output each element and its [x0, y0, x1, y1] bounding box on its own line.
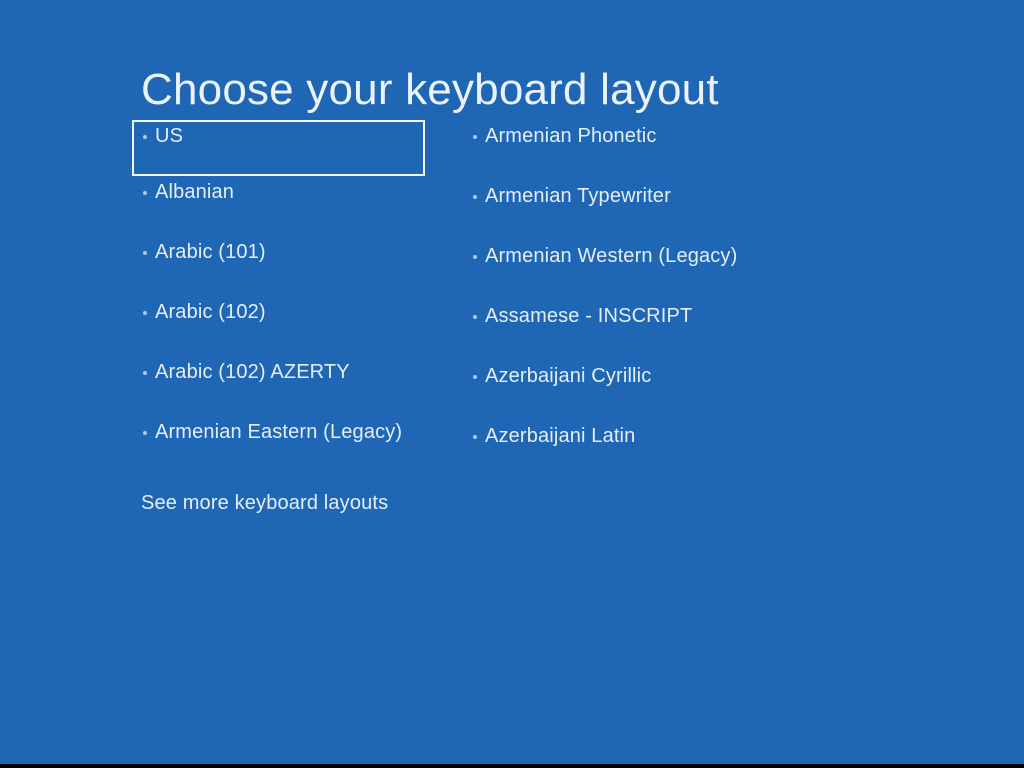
- bullet-dot-icon: [473, 135, 477, 139]
- keyboard-layout-screen: Choose your keyboard layout USAlbanianAr…: [0, 0, 1024, 764]
- bullet-dot-icon: [143, 251, 147, 255]
- bullet-dot-icon: [473, 375, 477, 379]
- bullet-dot-icon: [143, 431, 147, 435]
- keyboard-layout-option[interactable]: Armenian Phonetic: [462, 120, 762, 180]
- keyboard-layout-option[interactable]: Arabic (102): [132, 296, 426, 356]
- keyboard-layout-option[interactable]: US: [132, 120, 425, 176]
- bullet-dot-icon: [473, 195, 477, 199]
- keyboard-layout-option[interactable]: Assamese - INSCRIPT: [462, 300, 762, 360]
- bullet-dot-icon: [143, 311, 147, 315]
- bullet-dot-icon: [473, 315, 477, 319]
- keyboard-layout-option-label: Armenian Eastern (Legacy): [155, 421, 402, 444]
- keyboard-layout-option[interactable]: Albanian: [132, 176, 426, 236]
- keyboard-layout-option-label: Armenian Typewriter: [485, 185, 671, 208]
- keyboard-layout-option[interactable]: Azerbaijani Cyrillic: [462, 360, 762, 420]
- keyboard-layout-option-label: Albanian: [155, 181, 234, 204]
- bullet-dot-icon: [473, 435, 477, 439]
- keyboard-layout-option[interactable]: Arabic (101): [132, 236, 426, 296]
- keyboard-layout-option-label: Azerbaijani Latin: [485, 425, 635, 448]
- bullet-dot-icon: [473, 255, 477, 259]
- keyboard-layout-option[interactable]: Armenian Eastern (Legacy): [132, 416, 426, 476]
- page-title: Choose your keyboard layout: [141, 67, 719, 113]
- keyboard-layout-list-left: USAlbanianArabic (101)Arabic (102)Arabic…: [132, 120, 426, 476]
- bullet-dot-icon: [143, 191, 147, 195]
- keyboard-layout-option[interactable]: Armenian Typewriter: [462, 180, 762, 240]
- keyboard-layout-option-label: Assamese - INSCRIPT: [485, 305, 692, 328]
- keyboard-layout-option[interactable]: Arabic (102) AZERTY: [132, 356, 426, 416]
- keyboard-layout-option[interactable]: Azerbaijani Latin: [462, 420, 762, 480]
- keyboard-layout-option-label: Armenian Western (Legacy): [485, 245, 737, 268]
- bullet-dot-icon: [143, 371, 147, 375]
- keyboard-layout-option-label: Azerbaijani Cyrillic: [485, 365, 651, 388]
- keyboard-layout-option[interactable]: Armenian Western (Legacy): [462, 240, 762, 300]
- keyboard-layout-option-label: Arabic (101): [155, 241, 266, 264]
- bullet-dot-icon: [143, 135, 147, 139]
- keyboard-layout-option-label: Armenian Phonetic: [485, 125, 657, 148]
- keyboard-layout-list-right: Armenian PhoneticArmenian TypewriterArme…: [462, 120, 762, 480]
- keyboard-layout-option-label: Arabic (102): [155, 301, 266, 324]
- see-more-keyboard-layouts-link[interactable]: See more keyboard layouts: [141, 492, 388, 515]
- keyboard-layout-option-label: Arabic (102) AZERTY: [155, 361, 350, 384]
- screen-bottom-letterbox: [0, 764, 1024, 768]
- keyboard-layout-option-label: US: [155, 125, 183, 148]
